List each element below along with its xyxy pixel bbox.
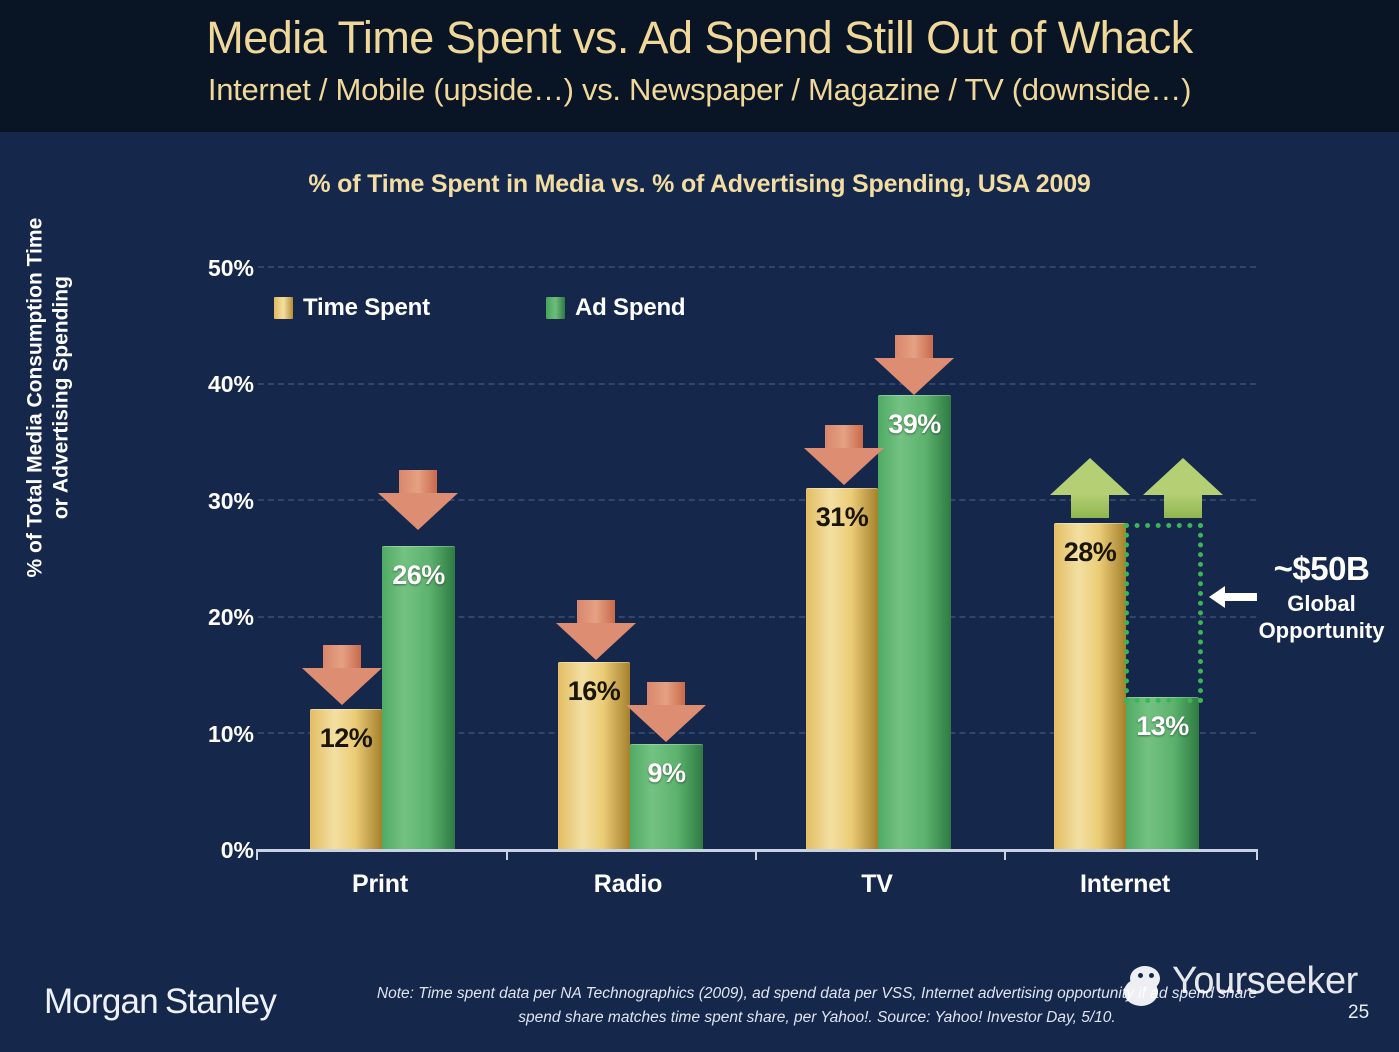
legend-item-ad-spend[interactable]: Ad Spend bbox=[546, 294, 685, 324]
legend-item-time-spent[interactable]: Time Spent bbox=[274, 294, 430, 324]
page-title: Media Time Spent vs. Ad Spend Still Out … bbox=[0, 12, 1399, 64]
bar-label-radio-ad-spend: 9% bbox=[630, 758, 703, 789]
footnote: Note: Time spent data per NA Technograph… bbox=[312, 982, 1322, 1030]
callout-line-global: Global bbox=[1244, 591, 1399, 617]
bar-label-print-time-spent: 12% bbox=[310, 723, 382, 754]
x-axis-right-cap bbox=[1256, 849, 1258, 860]
legend-label-ad-spend: Ad Spend bbox=[575, 294, 685, 321]
y-tick-label-40: 40% bbox=[178, 371, 254, 398]
x-tick-radio-tv bbox=[755, 849, 757, 860]
gridline-40 bbox=[258, 383, 1256, 385]
x-tick-print-radio bbox=[506, 849, 508, 860]
x-tick-tv-internet bbox=[1004, 849, 1006, 860]
y-tick-label-30: 30% bbox=[178, 488, 254, 515]
bar-internet-ad-spend[interactable]: 13% bbox=[1126, 697, 1199, 849]
callout-line-opportunity: Opportunity bbox=[1239, 618, 1399, 644]
chart-title: % of Time Spent in Media vs. % of Advert… bbox=[0, 170, 1399, 199]
bar-label-radio-time-spent: 16% bbox=[558, 676, 630, 707]
footnote-line-1: Note: Time spent data per NA Technograph… bbox=[312, 982, 1322, 1006]
bar-label-tv-time-spent: 31% bbox=[806, 502, 878, 533]
page-number: 25 bbox=[1348, 1002, 1369, 1024]
callout-amount: ~$50B bbox=[1244, 550, 1399, 588]
morgan-stanley-logo: MorganStanley bbox=[44, 982, 276, 1022]
y-tick-label-10: 10% bbox=[178, 721, 254, 748]
bar-label-internet-ad-spend: 13% bbox=[1126, 711, 1199, 742]
bar-print-time-spent[interactable]: 12% bbox=[310, 709, 382, 849]
bar-label-tv-ad-spend: 39% bbox=[878, 409, 951, 440]
bar-tv-time-spent[interactable]: 31% bbox=[806, 488, 878, 849]
x-category-label-print: Print bbox=[295, 870, 465, 899]
legend-swatch-ad-spend bbox=[546, 297, 565, 319]
bar-radio-time-spent[interactable]: 16% bbox=[558, 662, 630, 849]
y-axis-title: % of Total Media Consumption Time or Adv… bbox=[22, 178, 73, 618]
plot-area: 12% 26% 16% 9% 31% 39% 28% 13% bbox=[258, 266, 1256, 849]
y-axis-title-line1: % of Total Media Consumption Time bbox=[22, 178, 48, 618]
y-tick-label-0: 0% bbox=[178, 837, 254, 864]
y-axis-title-line2: or Advertising Spending bbox=[48, 178, 74, 618]
page-subtitle: Internet / Mobile (upside…) vs. Newspape… bbox=[0, 72, 1399, 108]
x-category-label-tv: TV bbox=[792, 870, 962, 899]
gridline-50 bbox=[258, 266, 1256, 268]
logo-text-stanley: Stanley bbox=[165, 982, 276, 1021]
bar-internet-time-spent[interactable]: 28% bbox=[1054, 523, 1126, 849]
y-tick-label-50: 50% bbox=[178, 255, 254, 282]
opportunity-highlight-box bbox=[1124, 523, 1203, 703]
bar-label-internet-time-spent: 28% bbox=[1054, 537, 1126, 568]
x-category-label-internet: Internet bbox=[1040, 870, 1210, 899]
logo-text-morgan: Morgan bbox=[44, 982, 158, 1021]
x-axis-line bbox=[256, 849, 1258, 852]
wechat-eye-left bbox=[1138, 973, 1143, 978]
bar-radio-ad-spend[interactable]: 9% bbox=[630, 744, 703, 849]
x-category-label-radio: Radio bbox=[543, 870, 713, 899]
x-axis-left-cap bbox=[256, 849, 258, 860]
footnote-line-2: spend share matches time spent share, pe… bbox=[312, 1006, 1322, 1030]
bar-label-print-ad-spend: 26% bbox=[382, 560, 455, 591]
bar-print-ad-spend[interactable]: 26% bbox=[382, 546, 455, 849]
legend-swatch-time-spent bbox=[274, 297, 293, 319]
wechat-eye-right bbox=[1149, 973, 1154, 978]
bar-tv-ad-spend[interactable]: 39% bbox=[878, 395, 951, 849]
y-tick-label-20: 20% bbox=[178, 604, 254, 631]
legend-label-time-spent: Time Spent bbox=[303, 294, 430, 321]
